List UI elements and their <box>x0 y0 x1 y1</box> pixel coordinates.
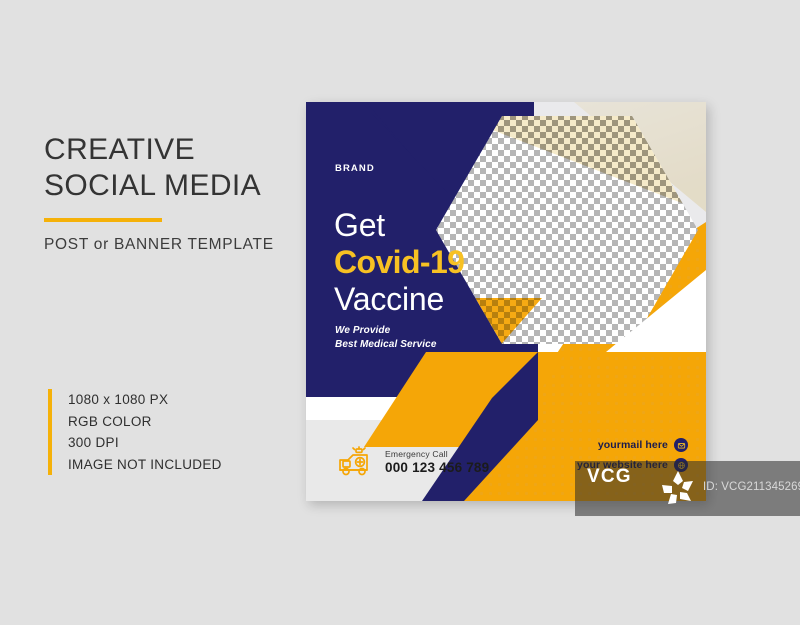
subhead-middle: or <box>94 236 109 253</box>
subhead: POST or BANNER TEMPLATE <box>44 236 294 254</box>
card-tagline: We Provide Best Medical Service <box>335 324 437 351</box>
stock-watermark: VCG ID: VCG211345269512 <box>575 461 800 516</box>
spec-list-accent-bar <box>48 389 52 475</box>
spec-item-color-mode: RGB COLOR <box>68 411 222 433</box>
card-title: Get Covid-19 Vaccine <box>334 207 464 318</box>
emergency-call-number: 000 123 456 789 <box>385 460 489 475</box>
mail-icon <box>674 438 688 452</box>
card-artwork: BRAND Get Covid-19 Vaccine We Provide Be… <box>306 102 706 501</box>
spec-list: 1080 x 1080 PX RGB COLOR 300 DPI IMAGE N… <box>48 389 222 475</box>
template-preview-card: BRAND Get Covid-19 Vaccine We Provide Be… <box>306 102 706 501</box>
watermark-logo: VCG <box>587 466 632 488</box>
subhead-suffix: BANNER TEMPLATE <box>114 236 274 253</box>
headline-line-1: CREATIVE <box>44 132 294 168</box>
headline-line-2: SOCIAL MEDIA <box>44 168 294 204</box>
spec-item-image-note: IMAGE NOT INCLUDED <box>68 454 222 476</box>
spec-item-dpi: 300 DPI <box>68 432 222 454</box>
emergency-call-block: Emergency Call 000 123 456 789 <box>334 445 489 479</box>
spec-item-dimensions: 1080 x 1080 PX <box>68 389 222 411</box>
card-tagline-line-2: Best Medical Service <box>335 338 437 352</box>
ambulance-icon <box>334 445 376 479</box>
card-title-line-1: Get <box>334 207 464 244</box>
subhead-prefix: POST <box>44 236 89 253</box>
left-info-panel: CREATIVE SOCIAL MEDIA POST or BANNER TEM… <box>44 132 294 254</box>
card-tagline-line-1: We Provide <box>335 324 437 338</box>
emergency-call-label: Emergency Call <box>385 449 489 459</box>
card-brand-label: BRAND <box>335 163 375 174</box>
contact-mail-text: yourmail here <box>598 439 668 451</box>
headline-rule <box>44 218 162 222</box>
watermark-id: ID: VCG211345269512 <box>703 481 800 493</box>
contact-row-mail: yourmail here <box>577 438 688 452</box>
card-title-line-3: Vaccine <box>334 281 464 318</box>
card-title-line-2: Covid-19 <box>334 244 464 281</box>
watermark-star-icon <box>658 467 698 509</box>
